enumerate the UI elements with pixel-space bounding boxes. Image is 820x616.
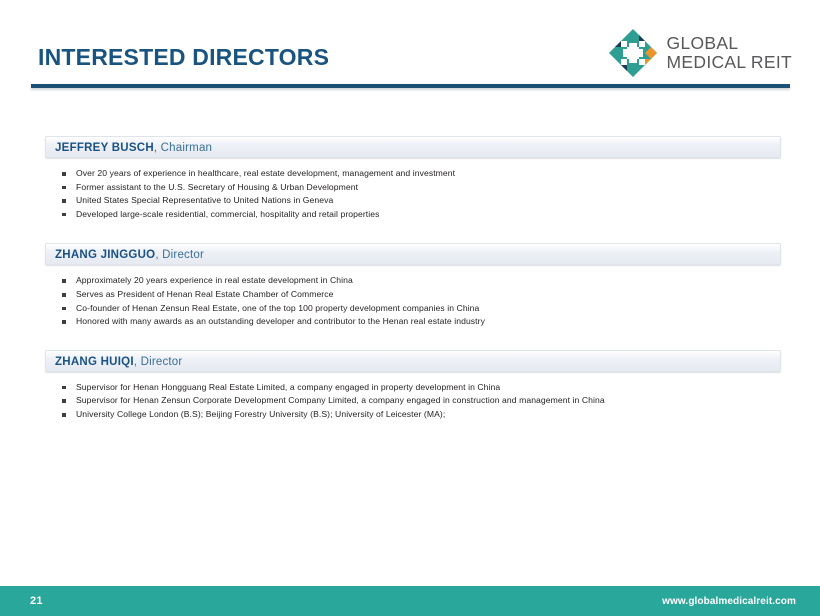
slide: INTERESTED DIRECTORS GLOBAL MEDICAL REIT (0, 0, 820, 616)
logo-text-line-1: GLOBAL (667, 34, 792, 53)
logo-text-line-2: MEDICAL REIT (667, 53, 792, 72)
list-item: Over 20 years of experience in healthcar… (62, 167, 781, 181)
global-medical-reit-logo-mark (608, 28, 658, 78)
list-item: Developed large-scale residential, comme… (62, 208, 781, 222)
list-item: Supervisor for Henan Hongguang Real Esta… (62, 381, 781, 395)
director-header: ZHANG JINGGUO, Director (45, 243, 781, 265)
list-item: Serves as President of Henan Real Estate… (62, 288, 781, 302)
director-header: JEFFREY BUSCH, Chairman (45, 136, 781, 158)
list-item: Supervisor for Henan Zensun Corporate De… (62, 394, 781, 408)
list-item: Honored with many awards as an outstandi… (62, 315, 781, 329)
directors-list: JEFFREY BUSCH, Chairman Over 20 years of… (45, 136, 781, 440)
list-item: Co-founder of Henan Zensun Real Estate, … (62, 302, 781, 316)
page-title: INTERESTED DIRECTORS (38, 44, 329, 71)
director-block-zhang-jingguo: ZHANG JINGGUO, Director Approximately 20… (45, 243, 781, 328)
director-role: , Director (155, 249, 204, 261)
director-name: ZHANG HUIQI (55, 356, 134, 368)
director-role: , Director (134, 356, 183, 368)
list-item: Former assistant to the U.S. Secretary o… (62, 181, 781, 195)
director-name: ZHANG JINGGUO (55, 249, 155, 261)
director-role: , Chairman (154, 142, 212, 154)
slide-footer: 21 www.globalmedicalreit.com (0, 586, 820, 616)
website-url[interactable]: www.globalmedicalreit.com (662, 596, 796, 607)
page-number: 21 (30, 595, 43, 607)
director-block-zhang-huiqi: ZHANG HUIQI, Director Supervisor for Hen… (45, 350, 781, 422)
list-item: University College London (B.S); Beijing… (62, 408, 781, 422)
list-item: United States Special Representative to … (62, 194, 781, 208)
director-bullets: Approximately 20 years experience in rea… (45, 274, 781, 328)
director-bullets: Over 20 years of experience in healthcar… (45, 167, 781, 221)
brand-logo: GLOBAL MEDICAL REIT (608, 28, 792, 78)
title-divider (31, 84, 790, 88)
director-bullets: Supervisor for Henan Hongguang Real Esta… (45, 381, 781, 422)
director-block-jeffrey-busch: JEFFREY BUSCH, Chairman Over 20 years of… (45, 136, 781, 221)
director-header: ZHANG HUIQI, Director (45, 350, 781, 372)
director-name: JEFFREY BUSCH (55, 142, 154, 154)
list-item: Approximately 20 years experience in rea… (62, 274, 781, 288)
